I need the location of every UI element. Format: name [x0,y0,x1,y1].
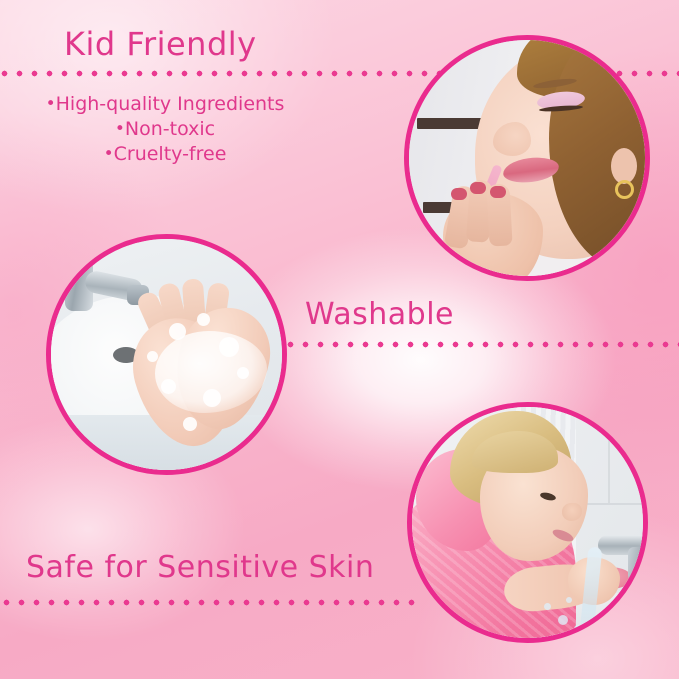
heading-washable: Washable [305,297,454,332]
photo-soapy-hands-washing [46,234,287,475]
painted-nail [451,188,467,200]
heading-kid-friendly: Kid Friendly [64,25,257,63]
water-droplet [574,625,582,633]
list-item-label: Non-toxic [125,118,215,140]
soap-bubble [237,367,249,379]
soap-bubble [203,389,221,407]
bullet-dot-icon: • [104,144,114,164]
faucet-scene [412,407,643,638]
dotted-divider-bottom [2,598,422,607]
soap-bubble [169,323,186,340]
heading-safe-for-sensitive-skin: Safe for Sensitive Skin [26,550,374,585]
product-feature-poster: Kid Friendly Washable Safe for Sensitive… [0,0,679,679]
list-item-label: Cruelty-free [114,143,227,165]
girl-ear [611,148,637,184]
bullet-dot-icon: • [46,94,56,114]
gold-earring-icon [615,180,634,199]
water-droplet [544,603,551,610]
list-item: •High-quality Ingredients [10,92,320,117]
soap-bubble [147,351,158,362]
list-item-label: High-quality Ingredients [56,93,285,115]
soap-bubble [219,337,239,357]
lip-gloss-scene [409,40,645,276]
girl-nose [493,122,531,156]
list-item: •Cruelty-free [10,142,320,167]
list-item: •Non-toxic [10,117,320,142]
water-droplet [558,615,568,625]
photo-girl-applying-lip-gloss [404,35,650,281]
bullet-dot-icon: • [115,119,125,139]
water-droplet [590,619,599,628]
photo-girl-rinsing-hands [407,402,648,643]
soap-bubble [197,313,210,326]
soap-bubble [161,379,176,394]
tile-grout-line-vertical [608,407,610,503]
water-droplet [566,597,572,603]
soap-bubble [183,417,197,431]
painted-nail [490,186,506,198]
handwash-scene [51,239,282,470]
dotted-divider-middle [286,340,679,349]
benefits-list: •High-quality Ingredients •Non-toxic •Cr… [10,92,320,167]
painted-nail [470,182,486,194]
dark-shelf-upper [417,118,487,129]
tile-grout-line [582,503,648,505]
